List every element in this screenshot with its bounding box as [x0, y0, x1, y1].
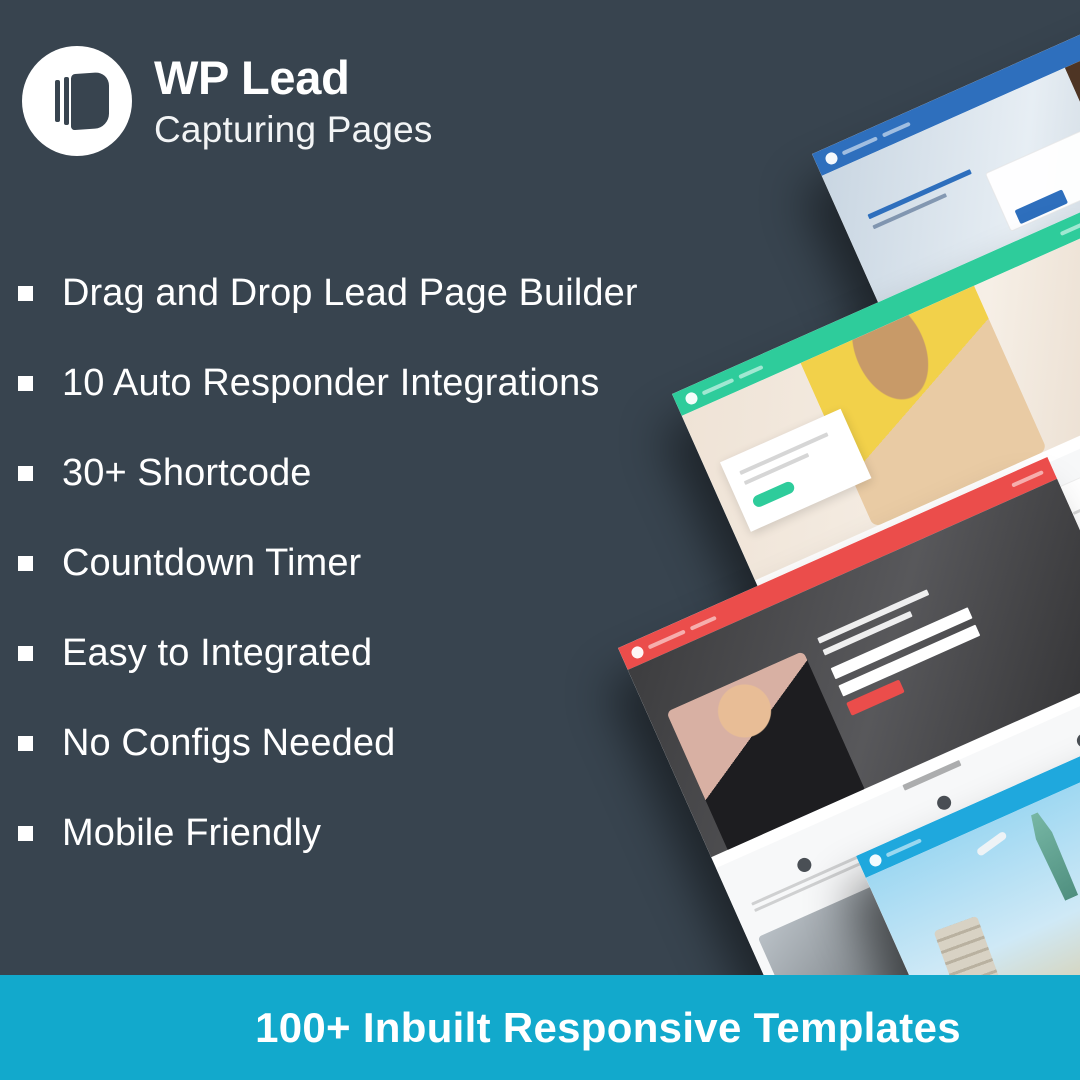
- square-bullet-icon: [18, 286, 33, 301]
- nav-item-placeholder: [1060, 220, 1080, 236]
- banner-headline: 100+ Inbuilt Responsive Templates: [255, 1004, 961, 1052]
- logo-mark-icon: [684, 391, 700, 407]
- feature-label: Countdown Timer: [62, 542, 361, 585]
- nav-item-placeholder: [690, 616, 717, 631]
- logo-shape-icon: [71, 72, 109, 131]
- bottom-banner: 100+ Inbuilt Responsive Templates: [0, 975, 1080, 1080]
- logo-mark-icon: [630, 645, 646, 661]
- brand-lockup: WP Lead Capturing Pages: [22, 46, 433, 156]
- airplane-icon: [976, 830, 1008, 856]
- feature-label: Drag and Drop Lead Page Builder: [62, 272, 638, 315]
- hero-headline-placeholder: [867, 159, 1000, 230]
- wp-lead-logo-icon: [22, 46, 132, 156]
- square-bullet-icon: [18, 376, 33, 391]
- square-bullet-icon: [18, 826, 33, 841]
- square-bullet-icon: [18, 646, 33, 661]
- square-bullet-icon: [18, 736, 33, 751]
- nav-item-placeholder: [738, 365, 763, 379]
- promo-button[interactable]: [751, 480, 796, 509]
- brand-title: WP Lead: [154, 54, 433, 101]
- feature-label: 10 Auto Responder Integrations: [62, 362, 600, 405]
- square-bullet-icon: [18, 556, 33, 571]
- square-bullet-icon: [18, 466, 33, 481]
- nav-item-placeholder: [1011, 470, 1044, 487]
- promo-card: [720, 409, 872, 532]
- statue-of-liberty-image: [1014, 805, 1080, 907]
- logo-mark-icon: [824, 151, 840, 167]
- feature-label: Easy to Integrated: [62, 632, 372, 675]
- feature-label: Mobile Friendly: [62, 812, 321, 855]
- feature-label: No Configs Needed: [62, 722, 395, 765]
- logo-bar-mid-icon: [64, 77, 69, 125]
- nav-item-placeholder: [882, 122, 911, 138]
- logo-mark-icon: [868, 853, 884, 869]
- poster-canvas: WP Lead Capturing Pages Drag and Drop Le…: [0, 0, 1080, 1080]
- brand-text-block: WP Lead Capturing Pages: [154, 54, 433, 148]
- brand-subtitle: Capturing Pages: [154, 111, 433, 148]
- hero-form-block: [817, 577, 989, 716]
- logo-bar-left-icon: [55, 80, 60, 122]
- nav-item-placeholder: [702, 378, 735, 395]
- feature-label: 30+ Shortcode: [62, 452, 312, 495]
- template-collage: [560, 120, 1080, 1000]
